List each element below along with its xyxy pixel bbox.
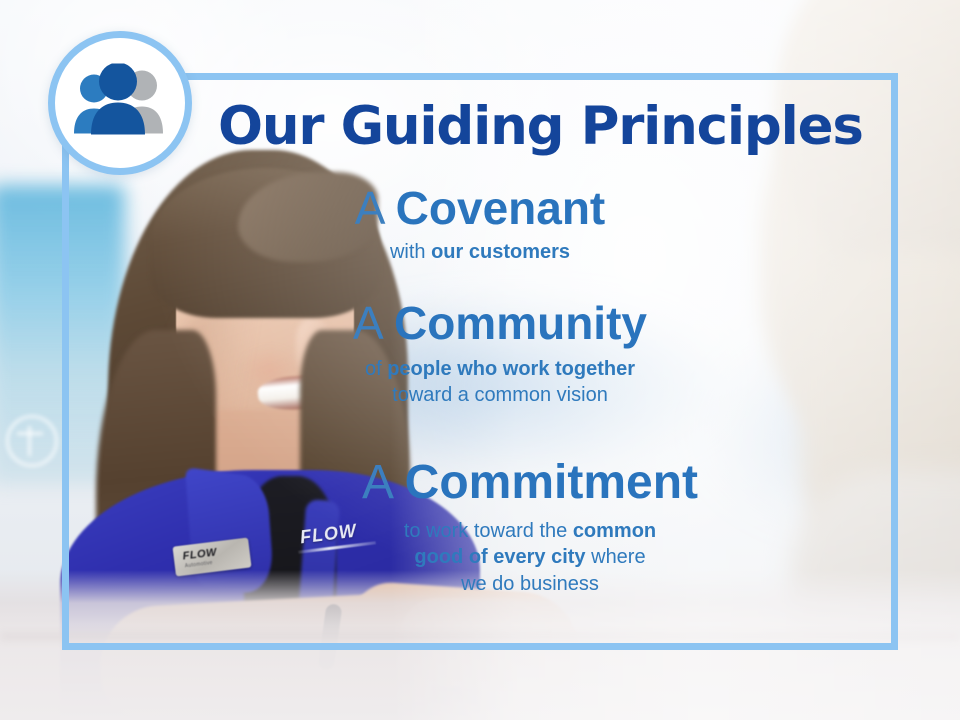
principle-covenant-subtitle: with our customers bbox=[0, 239, 960, 265]
subtitle-text: to work toward the bbox=[404, 520, 573, 542]
principle-commitment-heading: A Commitment bbox=[0, 458, 960, 508]
principle-covenant-article: A bbox=[355, 182, 396, 234]
principle-community-article: A bbox=[353, 297, 394, 349]
subtitle-text-strong: people who work together bbox=[387, 358, 635, 380]
principle-community-keyword: Community bbox=[394, 297, 647, 349]
subtitle-line: of people who work together bbox=[0, 356, 960, 382]
subtitle-line: with our customers bbox=[0, 239, 960, 265]
subtitle-text-strong: our customers bbox=[431, 241, 570, 263]
principle-community-heading: A Community bbox=[0, 300, 960, 348]
subtitle-line: to work toward the common bbox=[0, 518, 960, 544]
subtitle-text-strong: common bbox=[573, 520, 656, 542]
people-group-icon bbox=[66, 64, 174, 143]
subtitle-text: with bbox=[390, 241, 431, 263]
principle-covenant: A Covenant with our customers bbox=[0, 185, 960, 265]
principle-commitment-article: A bbox=[362, 456, 405, 509]
subtitle-line: we do business bbox=[0, 571, 960, 597]
principle-community: A Community of people who work together … bbox=[0, 300, 960, 409]
people-badge bbox=[48, 31, 192, 175]
photo-desk-edge bbox=[0, 634, 960, 642]
principle-commitment: A Commitment to work toward the common g… bbox=[0, 458, 960, 597]
principle-commitment-subtitle: to work toward the common good of every … bbox=[0, 518, 960, 597]
subtitle-text: where bbox=[586, 546, 646, 568]
subtitle-text: of bbox=[365, 358, 387, 380]
page-title: Our Guiding Principles bbox=[218, 96, 863, 157]
guiding-principles-poster: FLOW Automotive FLOW bbox=[0, 0, 960, 720]
principle-covenant-keyword: Covenant bbox=[396, 182, 606, 234]
principle-commitment-keyword: Commitment bbox=[405, 456, 698, 509]
principle-covenant-heading: A Covenant bbox=[0, 185, 960, 233]
principle-community-subtitle: of people who work together toward a com… bbox=[0, 356, 960, 409]
subtitle-line: toward a common vision bbox=[0, 382, 960, 408]
subtitle-line: good of every city where bbox=[0, 544, 960, 570]
subtitle-text-strong: good of every city bbox=[414, 546, 585, 568]
